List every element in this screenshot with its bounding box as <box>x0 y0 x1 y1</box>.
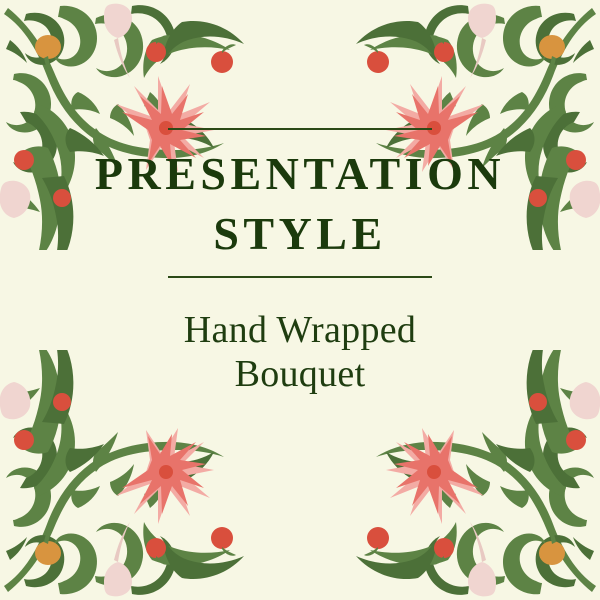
page-title: PRESENTATION STYLE <box>0 144 600 264</box>
red-berries <box>364 393 586 565</box>
pink-bell-flower <box>104 522 132 596</box>
amber-bud <box>539 35 565 84</box>
title-line-1: PRESENTATION <box>95 148 505 199</box>
coral-flower <box>116 428 214 524</box>
divider-bottom <box>168 276 432 278</box>
subtitle: Hand Wrapped Bouquet <box>0 308 600 396</box>
subtitle-line-1: Hand Wrapped <box>0 308 600 352</box>
pink-bell-flower <box>104 4 132 78</box>
title-line-2: STYLE <box>6 204 594 264</box>
title-block: PRESENTATION STYLE <box>0 128 600 278</box>
divider-top <box>168 128 432 130</box>
presentation-card: PRESENTATION STYLE Hand Wrapped Bouquet <box>0 0 600 600</box>
pink-bell-flower <box>468 4 496 78</box>
red-berries <box>14 393 236 565</box>
subtitle-line-2: Bouquet <box>0 352 600 396</box>
amber-bud <box>539 516 565 565</box>
amber-bud <box>35 35 61 84</box>
pink-bell-flower <box>468 522 496 596</box>
coral-flower <box>386 428 484 524</box>
amber-bud <box>35 516 61 565</box>
